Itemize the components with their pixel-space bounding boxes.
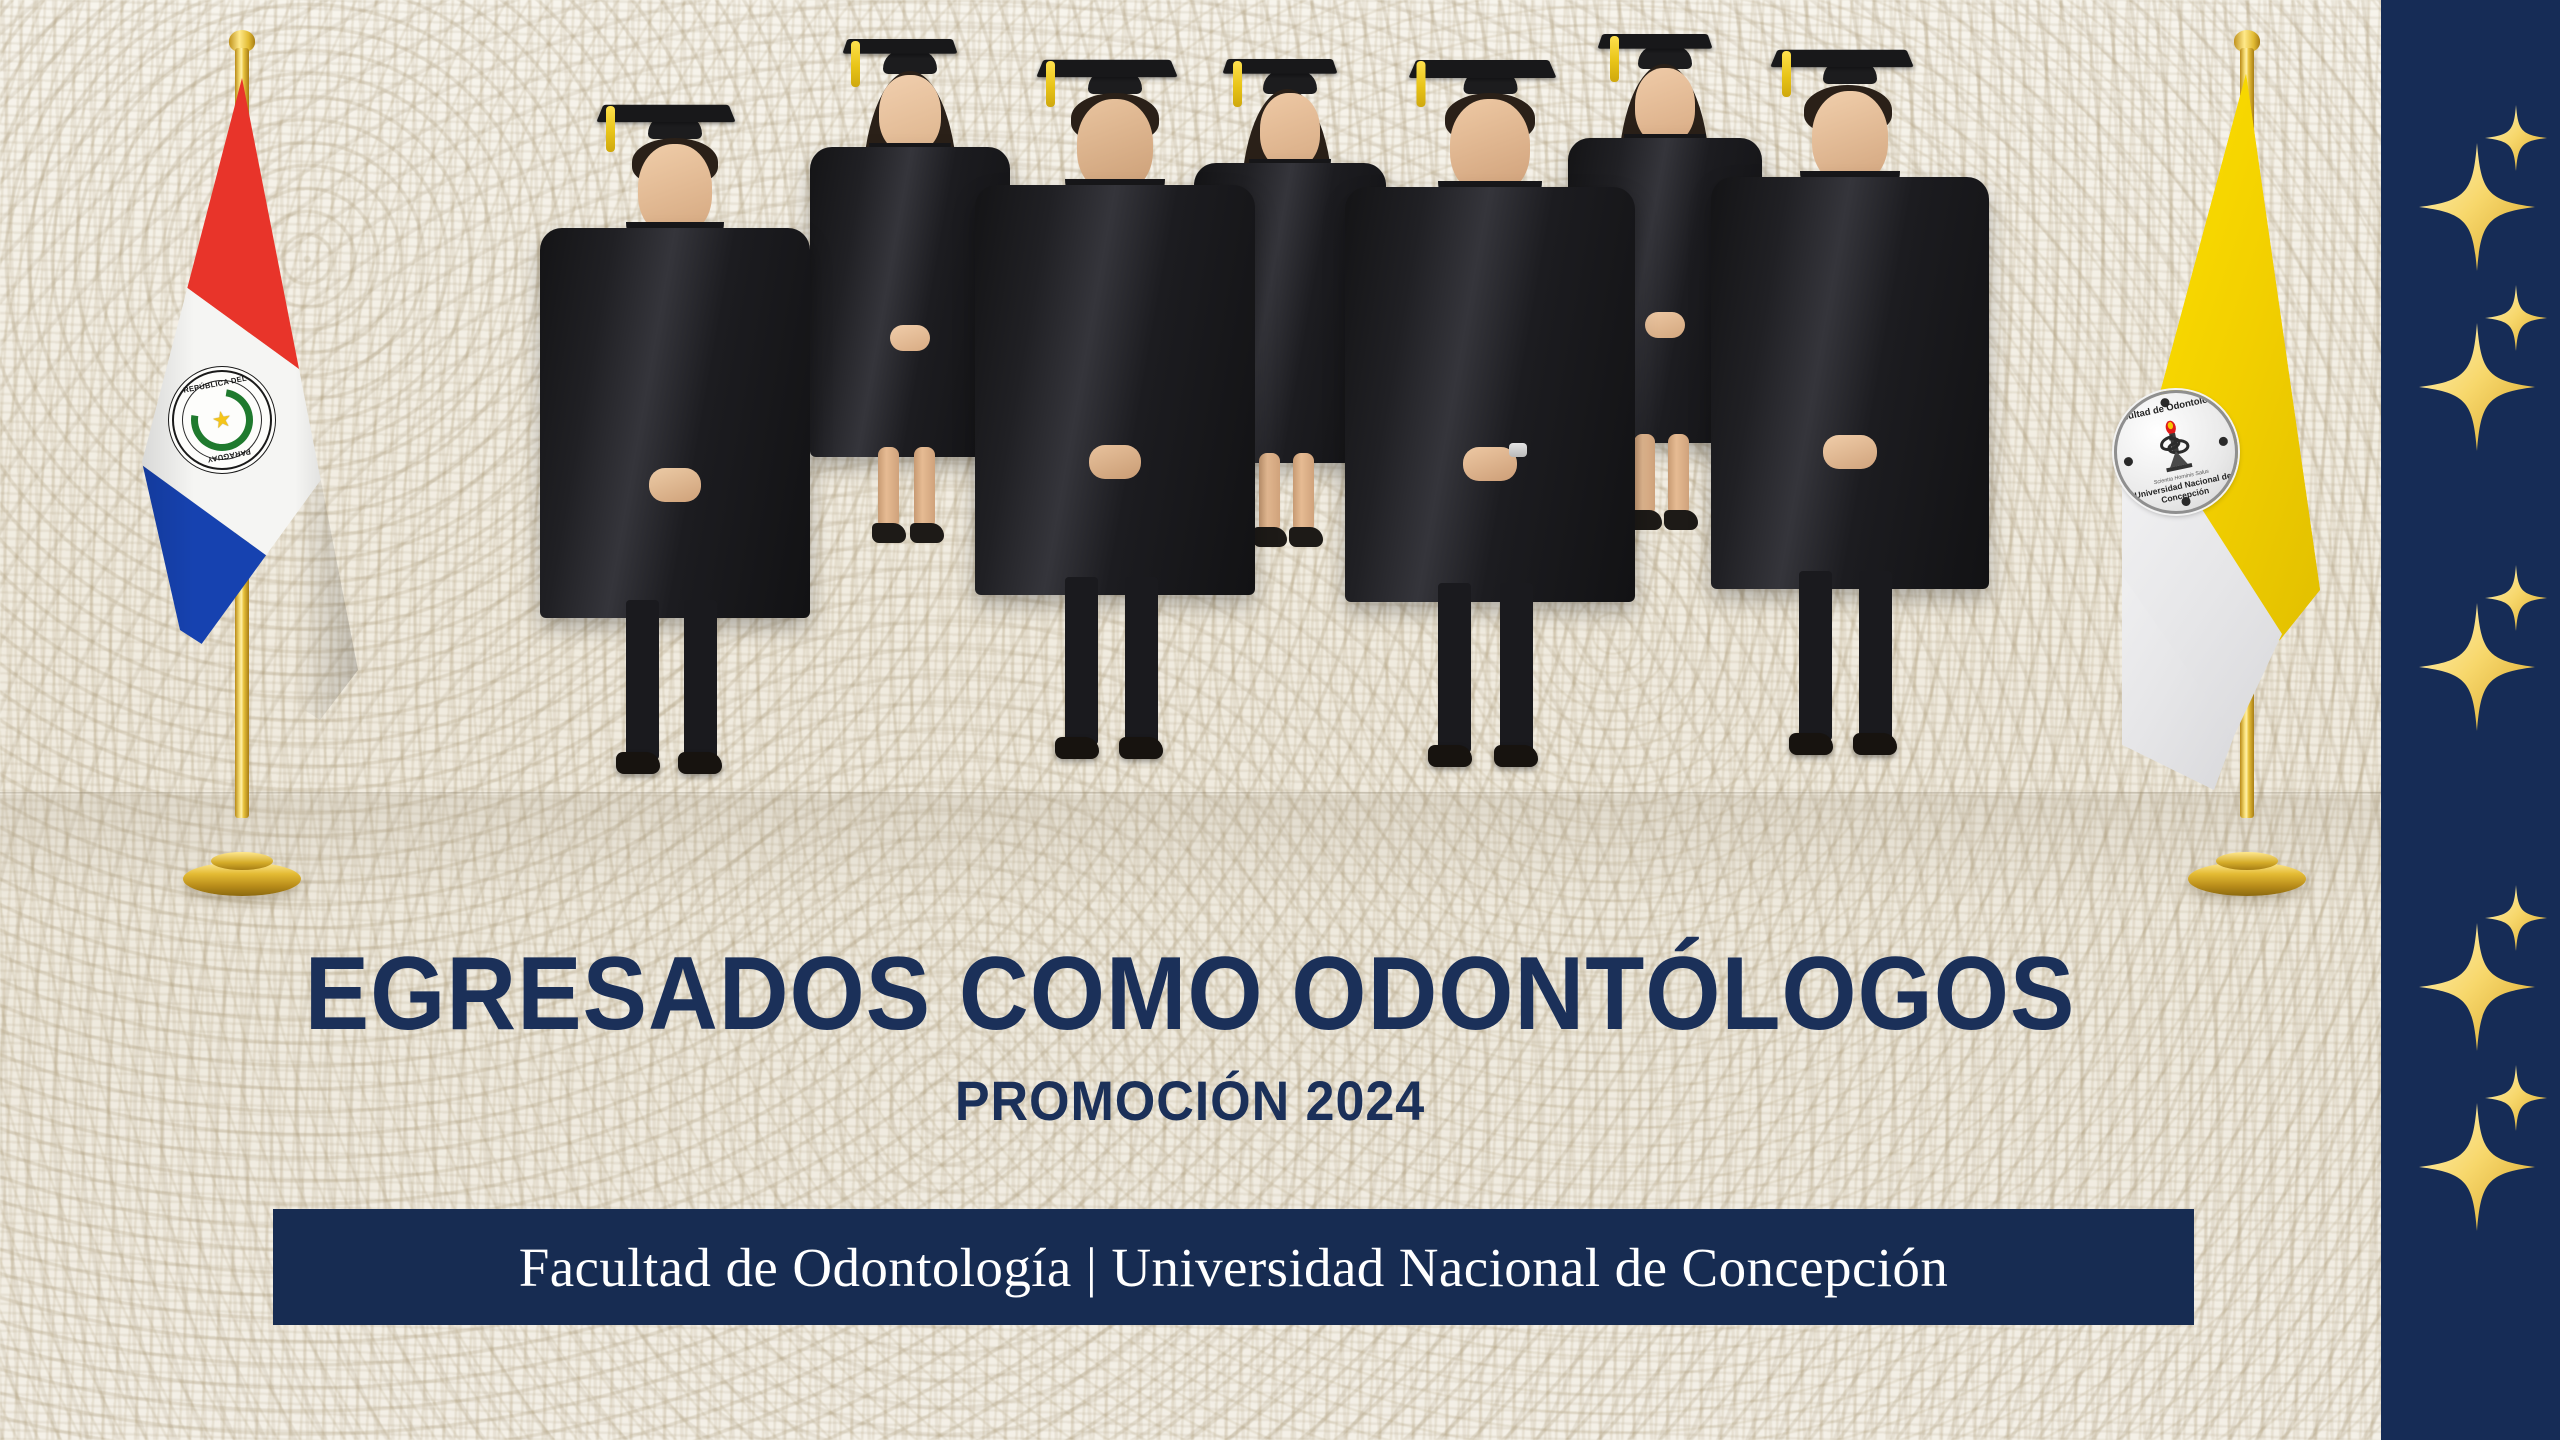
legs	[1793, 571, 1907, 806]
leg-right	[1125, 577, 1158, 745]
page-subtitle: PROMOCIÓN 2024	[83, 1068, 2296, 1133]
leg-right	[1293, 453, 1314, 533]
sparkle-group-3	[2381, 565, 2560, 795]
logo-dot-right	[2218, 436, 2229, 447]
hands	[649, 468, 701, 502]
leg-right	[1668, 434, 1689, 516]
shoe-left	[1055, 737, 1099, 759]
hands	[1645, 312, 1685, 338]
leg-right	[1500, 583, 1533, 753]
shoe-right	[1494, 745, 1538, 767]
cap-tassel	[606, 106, 615, 152]
leg-left	[1065, 577, 1098, 745]
hands	[1089, 445, 1141, 479]
shoe-right	[1664, 510, 1698, 530]
graduate-front-midleft	[965, 55, 1265, 885]
decorative-sidebar	[2381, 0, 2560, 1440]
sparkle-group-2	[2381, 285, 2560, 515]
shoe-right	[678, 752, 722, 774]
graduate-front-center	[1335, 55, 1645, 885]
mortarboard-cap	[845, 35, 975, 75]
graduation-gown	[1345, 187, 1635, 602]
cap-board	[596, 105, 735, 122]
graduation-gown	[975, 185, 1255, 595]
legs	[1432, 583, 1548, 818]
hands	[1270, 333, 1310, 359]
leg-right	[1859, 571, 1892, 741]
faculty-flag-stand: Facultad de Odontología Scientia Hominis…	[2122, 30, 2372, 900]
mortarboard-cap	[1774, 45, 1926, 89]
leg-left	[626, 600, 659, 760]
leg-left	[1438, 583, 1471, 753]
shoe-right	[1289, 527, 1323, 547]
shoe-left	[1789, 733, 1833, 755]
cap-board	[1408, 60, 1556, 78]
wristwatch	[1509, 443, 1527, 457]
hands	[890, 325, 930, 351]
graduation-gown	[540, 228, 810, 618]
leg-left	[1799, 571, 1832, 741]
cap-tassel	[1046, 61, 1055, 107]
shoe-left	[616, 752, 660, 774]
legs	[1059, 577, 1171, 807]
head	[879, 75, 941, 153]
shoe-left	[1428, 745, 1472, 767]
page-title: EGRESADOS COMO ODONTÓLOGOS	[83, 942, 2296, 1046]
paraguay-flag-stand: ★ REPÚBLICA DEL PARAGUAY	[122, 30, 362, 900]
sparkle-small-icon	[2485, 105, 2547, 171]
institution-banner: Facultad de Odontología | Universidad Na…	[273, 1209, 2194, 1325]
sparkle-small-icon	[2485, 565, 2547, 631]
cap-board	[1036, 60, 1178, 77]
leg-left	[878, 447, 899, 529]
graduate-front-left	[530, 100, 820, 880]
shoe-right	[910, 523, 944, 543]
hands	[1823, 435, 1877, 469]
sparkle-group-5	[2381, 1065, 2560, 1295]
legs	[620, 600, 730, 820]
leg-right	[914, 447, 935, 529]
cap-tassel	[1417, 61, 1426, 107]
graduation-poster: ★ REPÚBLICA DEL PARAGUAY	[0, 0, 2560, 1440]
sparkle-small-icon	[2485, 885, 2547, 951]
graduate-front-right	[1700, 45, 2000, 885]
institution-banner-text: Facultad de Odontología | Universidad Na…	[519, 1236, 1948, 1299]
head	[1260, 93, 1320, 169]
cap-board	[1770, 50, 1914, 67]
sparkle-small-icon	[2485, 1065, 2547, 1131]
shoe-right	[1853, 733, 1897, 755]
shoe-right	[1119, 737, 1163, 759]
cap-tassel	[1782, 51, 1791, 97]
graduation-gown	[1711, 177, 1989, 589]
shoe-left	[872, 523, 906, 543]
sparkle-small-icon	[2485, 285, 2547, 351]
logo-dot-left	[2123, 456, 2134, 467]
cap-tassel	[851, 41, 860, 87]
leg-right	[684, 600, 717, 760]
